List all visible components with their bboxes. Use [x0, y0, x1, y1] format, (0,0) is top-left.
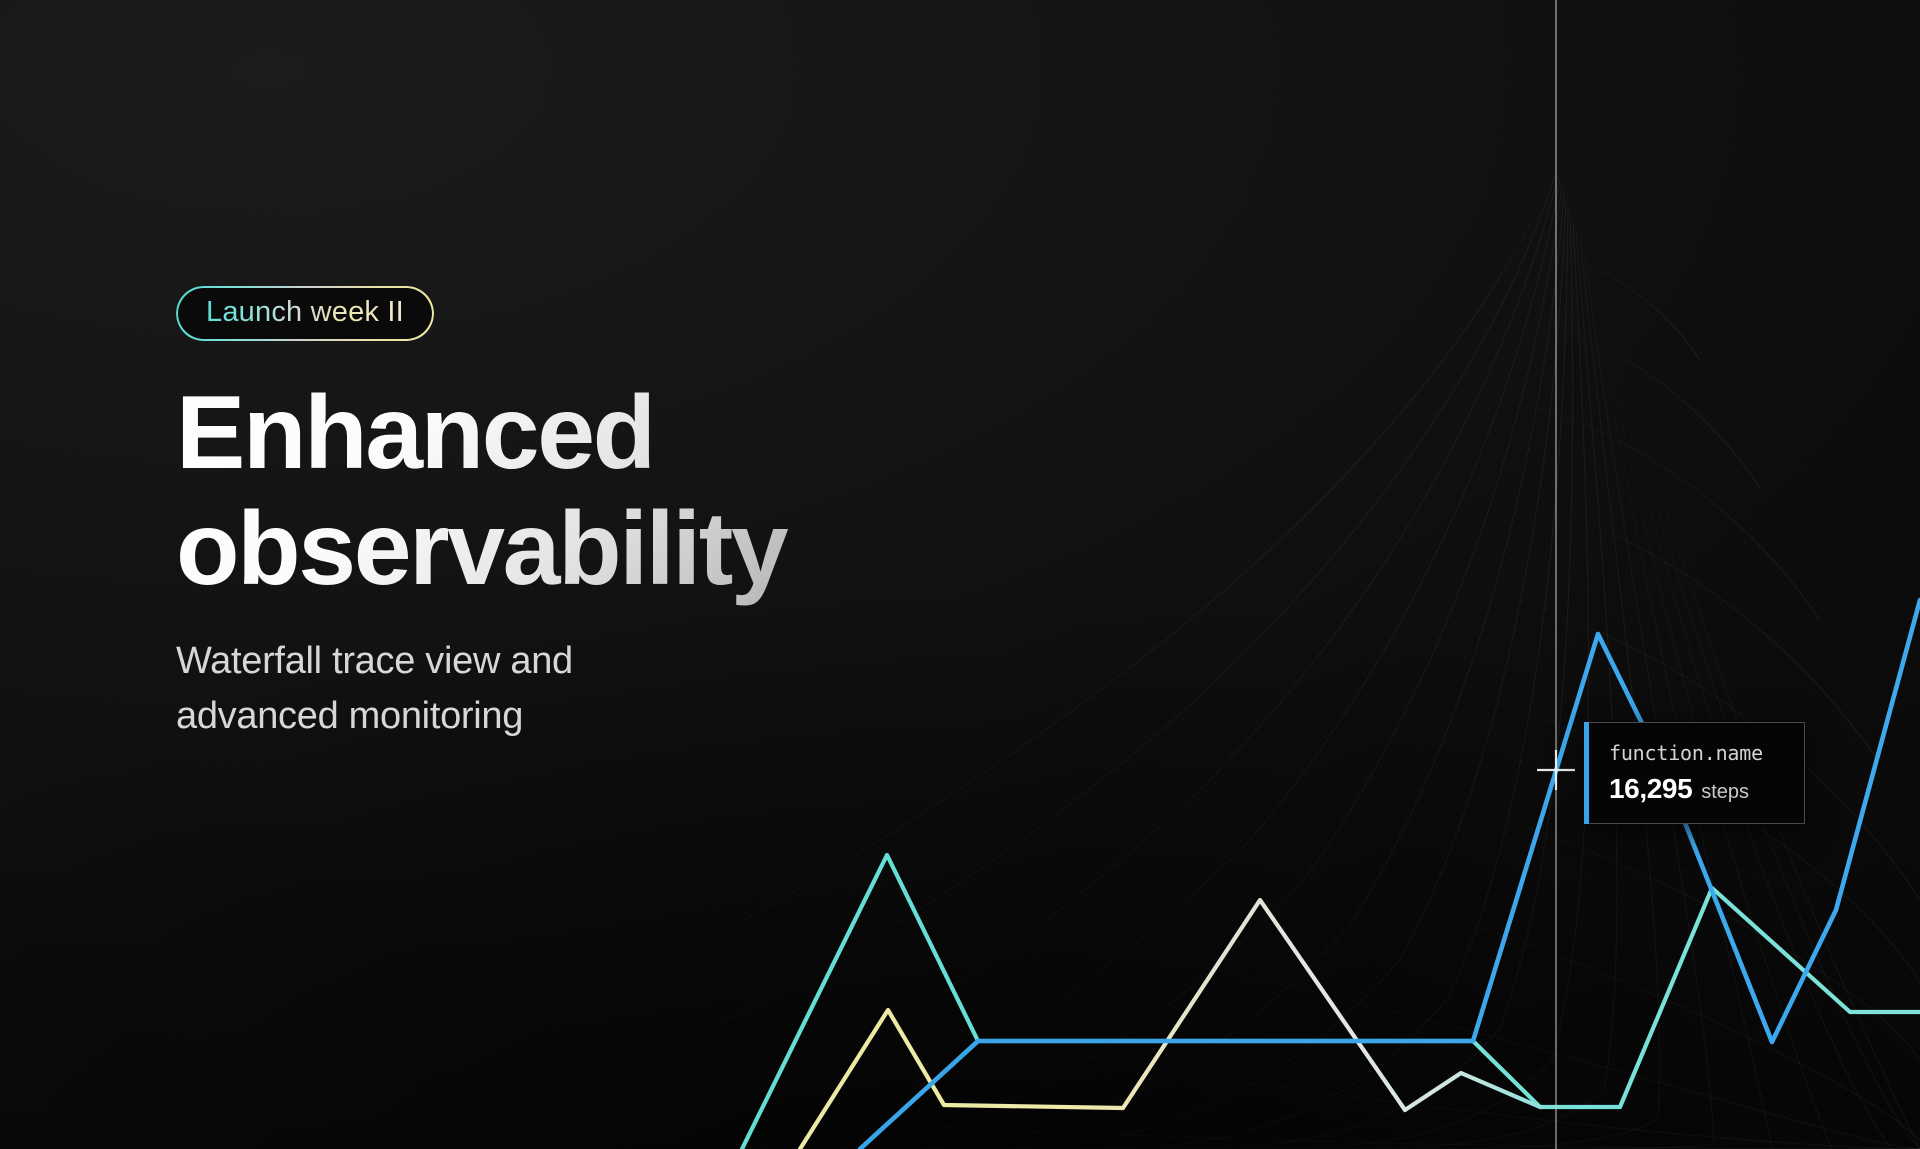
tooltip-metric-unit: steps	[1701, 781, 1749, 804]
hero-content: Launch week II Enhanced observability Wa…	[176, 286, 996, 744]
page-subtitle: Waterfall trace view and advanced monito…	[176, 634, 736, 744]
page-title: Enhanced observability	[176, 375, 936, 608]
chart-tooltip[interactable]: function.name 16,295 steps	[1589, 722, 1805, 824]
tooltip-metric-value: 16,295	[1609, 773, 1692, 805]
launch-week-badge[interactable]: Launch week II	[176, 286, 434, 341]
tooltip-function-name: function.name	[1609, 741, 1784, 765]
tooltip-metric-row: 16,295 steps	[1609, 773, 1784, 805]
launch-week-badge-label: Launch week II	[206, 296, 404, 328]
hero-canvas: function.name 16,295 steps Launch week I…	[0, 0, 1920, 1149]
